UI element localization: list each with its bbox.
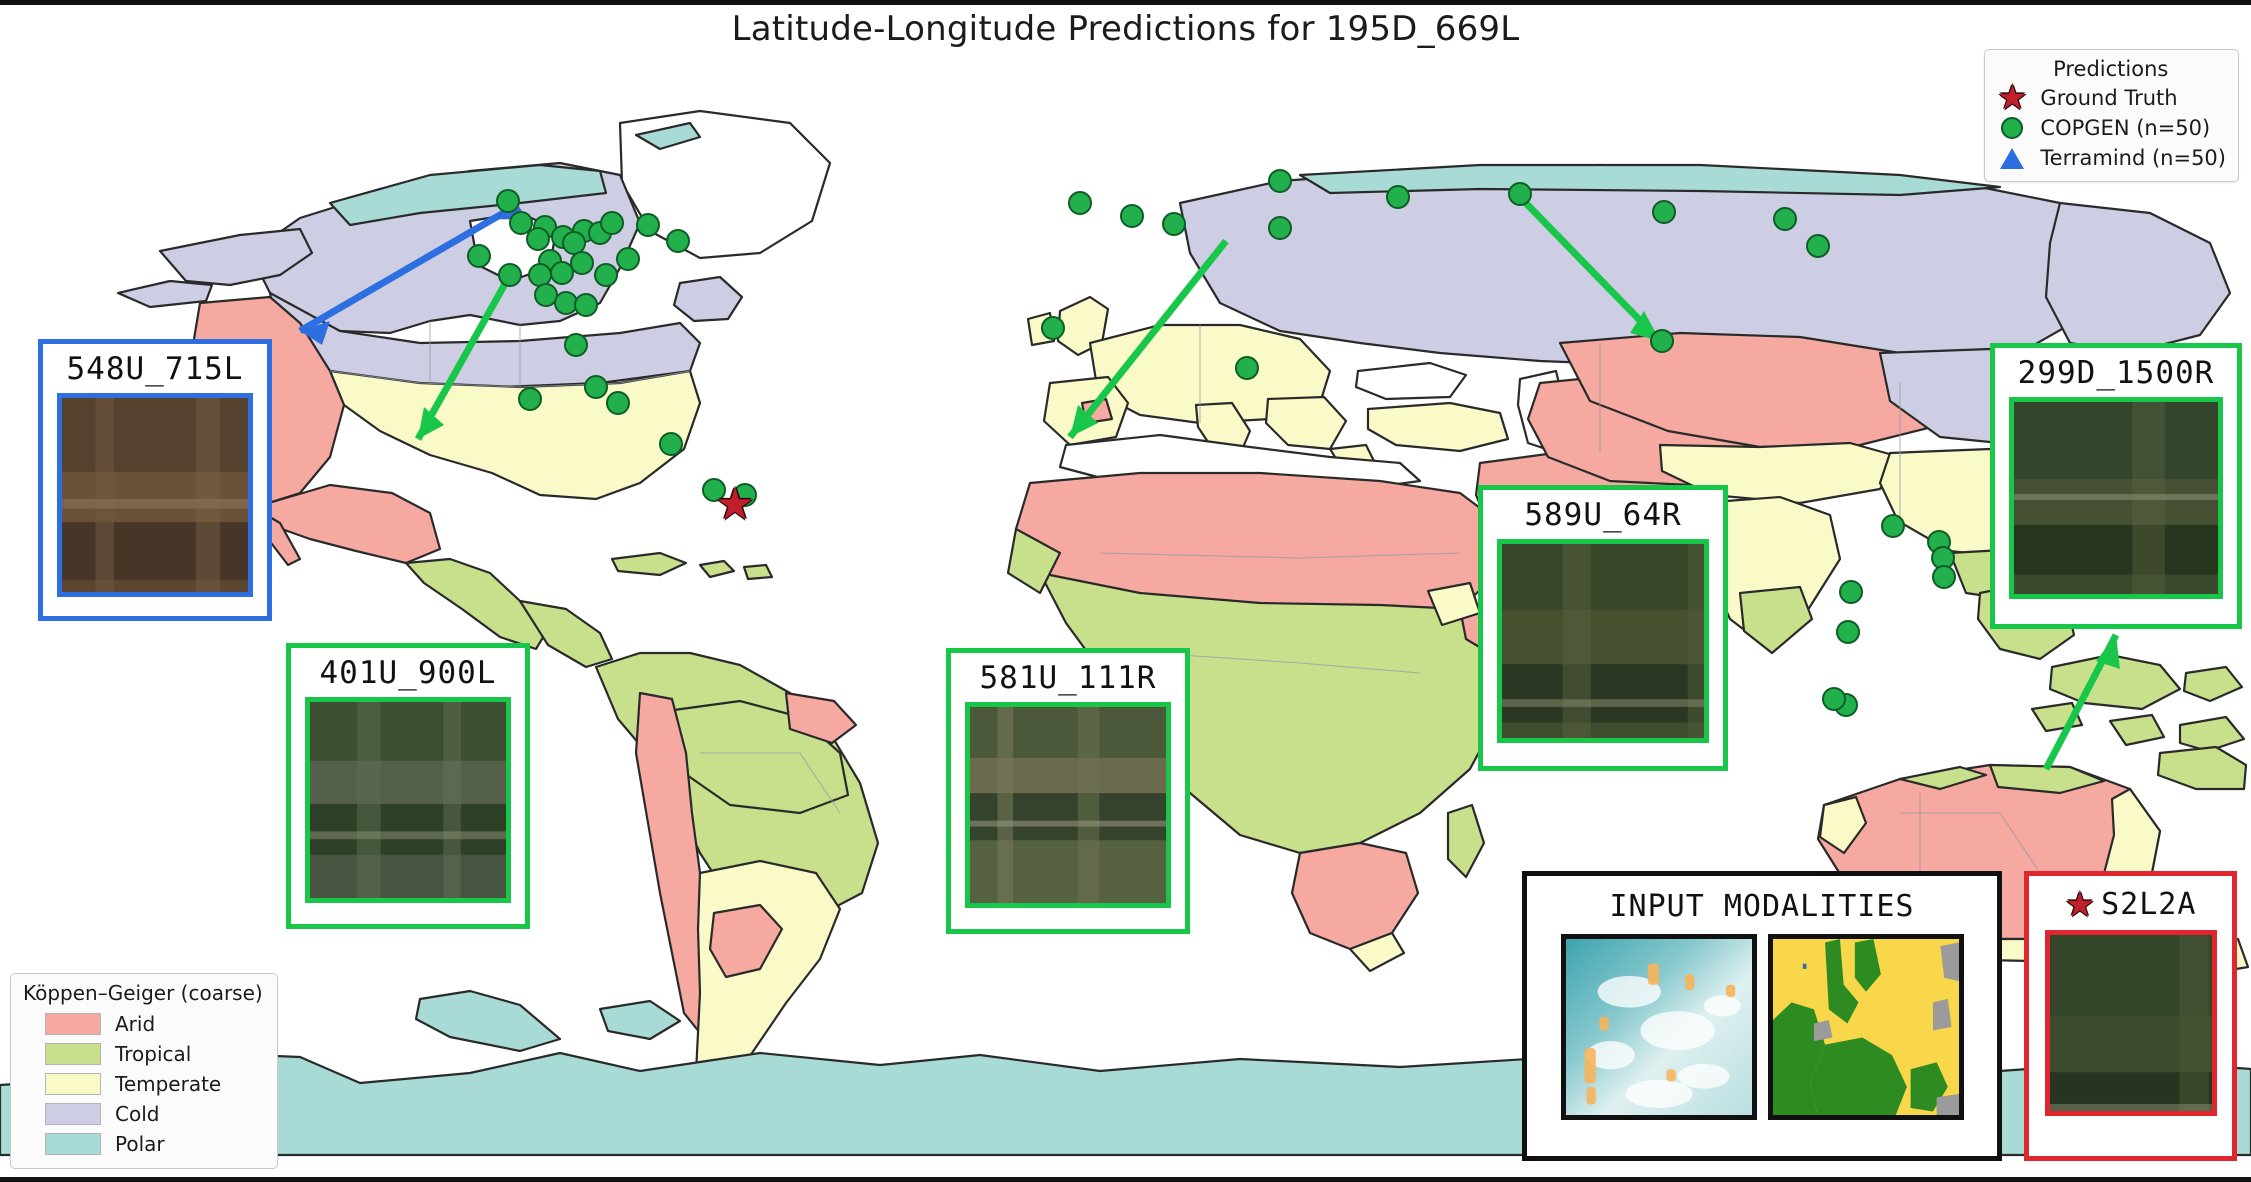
patch-card-label: 548U_715L: [63, 344, 248, 393]
koppen-label: Tropical: [115, 1042, 191, 1066]
input-modalities-title: INPUT MODALITIES: [1610, 876, 1915, 934]
predictions-legend: Predictions ★ Ground Truth COPGEN (n=50)…: [1984, 49, 2239, 182]
marker-copgen: [636, 213, 660, 237]
koppen-item-arid: Arid: [23, 1009, 263, 1039]
color-swatch: [45, 1133, 101, 1155]
marker-copgen: [1268, 216, 1292, 240]
marker-copgen: [1235, 356, 1259, 380]
landcover-thumbnail: [1768, 934, 1964, 1120]
koppen-item-cold: Cold: [23, 1099, 263, 1129]
legend-label: Terramind (n=50): [2040, 146, 2226, 170]
legend-title: Predictions: [1995, 57, 2226, 81]
marker-copgen: [1386, 185, 1410, 209]
koppen-item-tropical: Tropical: [23, 1039, 263, 1069]
marker-copgen: [1822, 687, 1846, 711]
koppen-item-polar: Polar: [23, 1129, 263, 1159]
koppen-label: Temperate: [115, 1072, 221, 1096]
marker-copgen: [564, 333, 588, 357]
patch-thumbnail: [965, 702, 1171, 908]
koppen-geiger-legend: Köppen–Geiger (coarse) Arid Tropical Tem…: [10, 973, 278, 1169]
figure-canvas: Latitude-Longitude Predictions for 195D_…: [0, 0, 2251, 1182]
star-icon: ★: [2065, 888, 2095, 922]
koppen-label: Arid: [115, 1012, 155, 1036]
patch-card-label: 401U_900L: [316, 648, 501, 697]
marker-copgen: [467, 244, 491, 268]
marker-copgen: [1068, 191, 1092, 215]
koppen-label: Cold: [115, 1102, 159, 1126]
koppen-label: Polar: [115, 1132, 165, 1156]
patch-card-label: 589U_64R: [1520, 490, 1685, 539]
ground-truth-star: ★: [715, 483, 754, 527]
marker-copgen: [1839, 580, 1863, 604]
marker-copgen: [606, 391, 630, 415]
input-modalities-row: [1561, 934, 1964, 1120]
legend-label: COPGEN (n=50): [2040, 116, 2210, 140]
color-swatch: [45, 1043, 101, 1065]
marker-copgen: [1773, 207, 1797, 231]
marker-copgen: [1162, 212, 1186, 236]
legend-item-copgen: COPGEN (n=50): [1995, 113, 2226, 143]
patch-card-label: 299D_1500R: [2014, 348, 2219, 397]
input-modalities-panel: INPUT MODALITIES: [1522, 871, 2002, 1161]
marker-copgen: [1836, 620, 1860, 644]
legend-item-terramind: Terramind (n=50): [1995, 143, 2226, 173]
patch-card-label: 581U_111R: [976, 653, 1161, 702]
triangle-icon: [1995, 148, 2029, 169]
patch-card-589u-64r: 589U_64R: [1478, 485, 1728, 771]
patch-thumbnail: [2009, 397, 2223, 599]
legend-item-ground-truth: ★ Ground Truth: [1995, 83, 2226, 113]
marker-copgen: [594, 263, 618, 287]
marker-copgen: [496, 189, 520, 213]
patch-card-581u-111r: 581U_111R: [946, 648, 1190, 934]
marker-copgen: [600, 211, 624, 235]
circle-icon: [1995, 117, 2029, 139]
marker-copgen: [1650, 329, 1674, 353]
marker-copgen: [1881, 514, 1905, 538]
legend-label: Ground Truth: [2040, 86, 2177, 110]
patch-thumbnail: [57, 393, 253, 597]
koppen-legend-title: Köppen–Geiger (coarse): [23, 981, 263, 1005]
marker-copgen: [1652, 200, 1676, 224]
s1-radar-thumbnail: [1561, 934, 1757, 1120]
marker-copgen: [574, 293, 598, 317]
marker-copgen: [584, 375, 608, 399]
color-swatch: [45, 1103, 101, 1125]
s2l2a-title: S2L2A: [2101, 887, 2196, 922]
patch-thumbnail: [305, 697, 511, 903]
marker-copgen: [1268, 169, 1292, 193]
patch-thumbnail: [1497, 539, 1709, 743]
s2l2a-panel: ★ S2L2A: [2024, 871, 2237, 1161]
marker-copgen: [570, 251, 594, 275]
marker-copgen: [616, 247, 640, 271]
color-swatch: [45, 1073, 101, 1095]
patch-card-401u-900l: 401U_900L: [286, 643, 530, 929]
marker-copgen: [659, 432, 683, 456]
marker-copgen: [1120, 204, 1144, 228]
marker-copgen: [526, 227, 550, 251]
koppen-item-temperate: Temperate: [23, 1069, 263, 1099]
marker-copgen: [1041, 316, 1065, 340]
star-icon: ★: [1995, 81, 2029, 115]
marker-copgen: [498, 263, 522, 287]
marker-copgen: [1806, 234, 1830, 258]
color-swatch: [45, 1013, 101, 1035]
marker-copgen: [666, 229, 690, 253]
s2l2a-header: ★ S2L2A: [2065, 876, 2197, 930]
marker-copgen: [1508, 182, 1532, 206]
patch-card-548u-715l: 548U_715L: [38, 339, 272, 621]
patch-card-299d-1500r: 299D_1500R: [1990, 343, 2242, 629]
page-title: Latitude-Longitude Predictions for 195D_…: [0, 9, 2251, 49]
marker-copgen: [518, 387, 542, 411]
marker-copgen: [1932, 565, 1956, 589]
s2l2a-thumbnail: [2045, 930, 2217, 1116]
